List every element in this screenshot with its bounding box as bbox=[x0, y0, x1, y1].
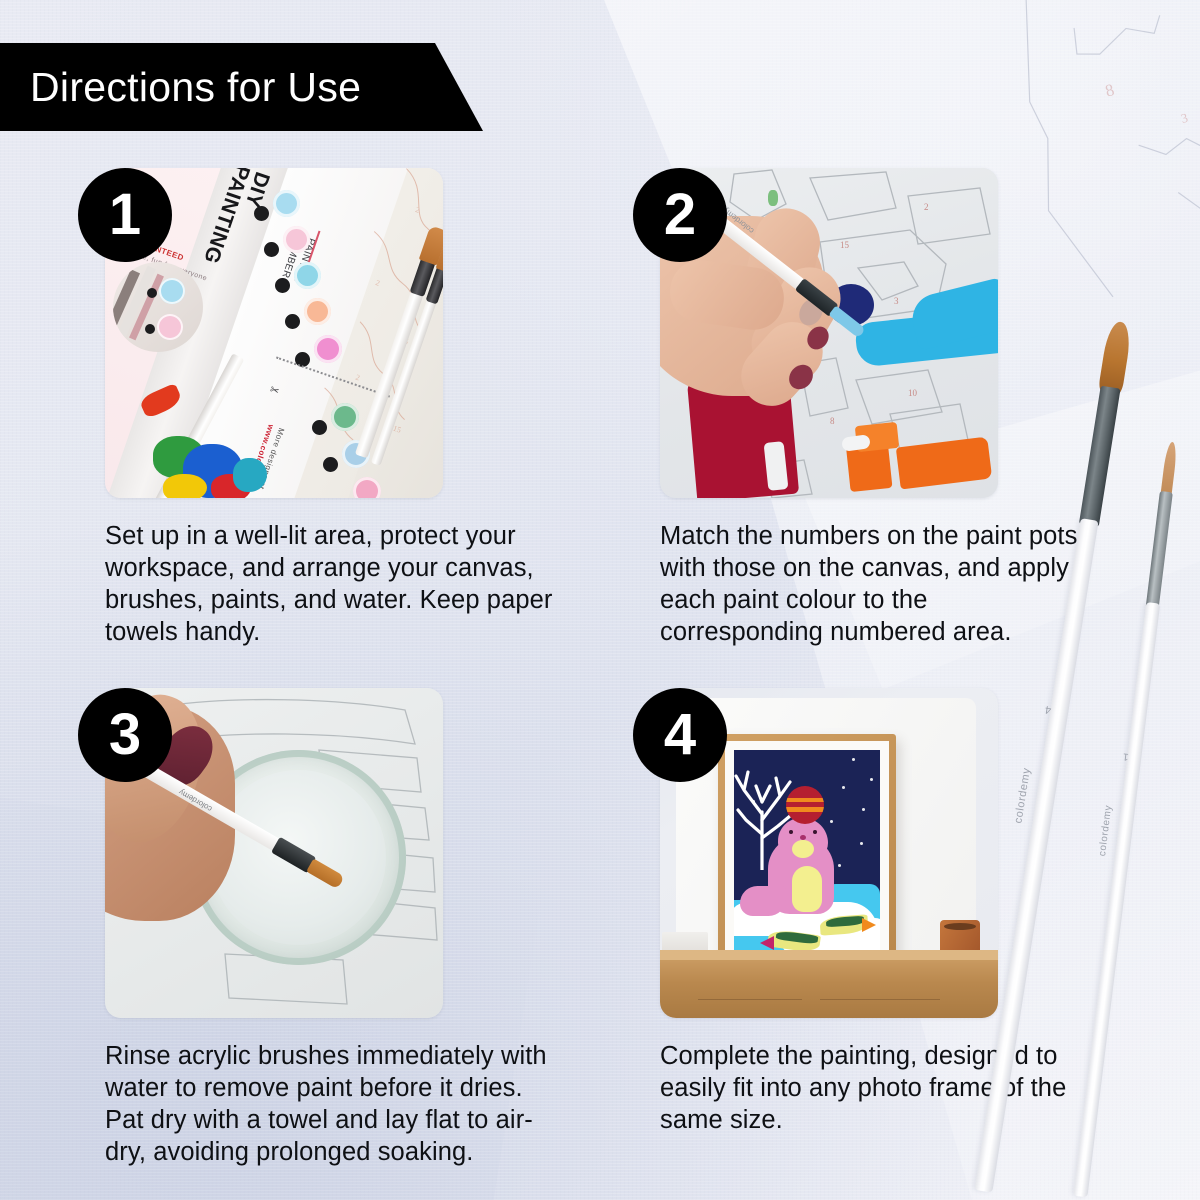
paint-pot-number-6 bbox=[312, 420, 327, 435]
paint-pot-4 bbox=[304, 298, 331, 325]
step-1-number: 1 bbox=[109, 186, 141, 244]
paint-pot-3 bbox=[294, 262, 321, 289]
step-2-caption: Match the numbers on the paint pots with… bbox=[660, 520, 1078, 649]
step-1-badge: 1 bbox=[78, 168, 172, 262]
svg-text:2: 2 bbox=[354, 373, 361, 383]
svg-text:2: 2 bbox=[924, 202, 929, 212]
paint-pot-number-1 bbox=[254, 206, 269, 221]
step-2-number: 2 bbox=[664, 186, 696, 244]
paint-pot-number-7 bbox=[323, 457, 338, 472]
paint-pot-5 bbox=[314, 335, 342, 363]
step-1-caption: Set up in a well-lit area, protect your … bbox=[105, 520, 557, 649]
directions-for-use-page: 8 3 Directions for Use 215 bbox=[0, 0, 1200, 1200]
step-3: 10 colordemy 3 Rinse acrylic brushes imm… bbox=[105, 688, 557, 1169]
svg-text:10: 10 bbox=[908, 388, 918, 398]
artwork-star bbox=[862, 808, 865, 811]
artwork-ball bbox=[786, 786, 824, 824]
svg-text:3: 3 bbox=[894, 296, 899, 306]
kit-inset-circle bbox=[113, 262, 203, 352]
paint-pot-number-3 bbox=[275, 278, 290, 293]
artwork-star bbox=[838, 864, 841, 867]
step-1: 215 215 215 DIY PAINTING PAINT BY NUMBER… bbox=[105, 168, 557, 649]
artwork-star bbox=[860, 842, 863, 845]
step-4-badge: 4 bbox=[633, 688, 727, 782]
artwork-seal-belly bbox=[792, 866, 822, 912]
page-title: Directions for Use bbox=[30, 67, 361, 108]
step-3-badge: 3 bbox=[78, 688, 172, 782]
paint-blob-yellow bbox=[163, 474, 207, 498]
shelf-drawer-divider-2 bbox=[820, 999, 940, 1001]
paint-pot-1 bbox=[273, 190, 300, 217]
artwork-seal-nose bbox=[800, 835, 806, 840]
step-3-number: 3 bbox=[109, 706, 141, 764]
svg-text:3: 3 bbox=[1179, 110, 1189, 126]
artwork-seal-tail bbox=[740, 886, 786, 916]
canvas-green-mark bbox=[768, 190, 778, 206]
artwork-star bbox=[870, 778, 873, 781]
wooden-shelf bbox=[660, 960, 998, 1018]
svg-text:2: 2 bbox=[374, 278, 381, 288]
artwork-seal-muzzle bbox=[792, 840, 814, 858]
picture-frame bbox=[718, 734, 896, 982]
page-title-banner: Directions for Use bbox=[0, 43, 483, 131]
step-3-caption: Rinse acrylic brushes immediately with w… bbox=[105, 1040, 557, 1169]
step-2-badge: 2 bbox=[633, 168, 727, 262]
artwork-star bbox=[830, 820, 833, 823]
foreground-brush-small-tip bbox=[1160, 441, 1178, 498]
paint-pot-number-4 bbox=[285, 314, 300, 329]
step-4-number: 4 bbox=[664, 706, 696, 764]
artwork-star bbox=[842, 786, 845, 789]
svg-text:15: 15 bbox=[840, 240, 850, 250]
finished-artwork bbox=[734, 750, 880, 972]
artwork-seal-eye-right bbox=[813, 830, 817, 834]
shelf-drawer-divider-1 bbox=[698, 999, 802, 1001]
paint-pot-8 bbox=[353, 477, 381, 498]
paint-pot-2 bbox=[283, 226, 310, 253]
paint-pot-number-2 bbox=[264, 242, 279, 257]
svg-text:8: 8 bbox=[830, 416, 835, 426]
artwork-star bbox=[852, 758, 855, 761]
svg-text:8: 8 bbox=[1103, 80, 1116, 101]
shelf-top-surface bbox=[660, 950, 998, 960]
artwork-seal-eye-left bbox=[789, 830, 793, 834]
paint-pot-6 bbox=[331, 403, 359, 431]
step-2: 215 13 108 141 17 14 bbox=[660, 168, 1078, 649]
